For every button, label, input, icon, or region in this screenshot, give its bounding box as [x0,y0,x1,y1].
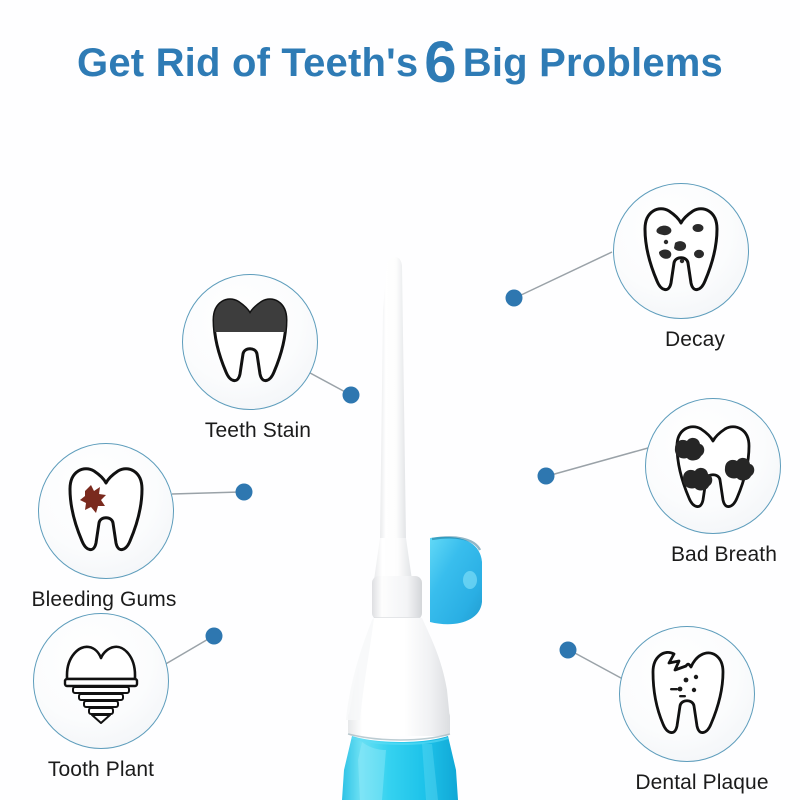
implant-thread-4 [89,708,113,714]
tooth-bleeding-icon [58,461,154,561]
problem-circle-bad-breath [645,398,781,534]
nozzle-shaft [374,538,412,580]
nozzle-collar [372,576,422,620]
page-title-number: 6 [418,30,462,95]
water-tank-highlight [358,742,386,800]
problem-label-teeth-stain: Teeth Stain [190,419,326,443]
problem-label-bad-breath: Bad Breath [639,543,800,567]
page-title: Get Rid of Teeth's6Big Problems [0,28,800,86]
problem-label-bleeding-gums: Bleeding Gums [4,588,204,612]
implant-thread-2 [79,694,123,700]
problem-circle-bleeding-gums [38,443,174,579]
implant-base [65,679,137,686]
connector-dot-tooth-plant [206,628,223,645]
problem-label-tooth-plant: Tooth Plant [11,758,191,782]
problem-circle-tooth-plant [33,613,169,749]
tooth-stain-icon [202,292,298,392]
problem-circle-dental-plaque [619,626,755,762]
nozzle-tip [380,257,406,540]
implant-crown [67,647,135,679]
page-title-prefix: Get Rid of Teeth's [77,41,418,85]
implant-thread-3 [84,701,118,707]
handle-body-lower [348,712,450,736]
problem-item-dental-plaque[interactable]: Dental Plaque [619,626,797,795]
infographic-canvas: Get Rid of Teeth's6Big Problems [0,0,800,800]
problem-circle-teeth-stain [182,274,318,410]
problem-item-teeth-stain[interactable]: Teeth Stain [182,274,326,443]
product-illustration [330,250,570,800]
page-title-suffix: Big Problems [463,41,723,85]
tooth-outline-chipped [653,652,723,732]
implant-thread-1 [73,687,129,693]
problem-circle-decay [613,183,749,319]
problem-label-decay: Decay [627,328,763,352]
problem-item-tooth-plant[interactable]: Tooth Plant [33,613,191,782]
problem-item-decay[interactable]: Decay [613,183,763,352]
implant-tip [92,715,110,723]
problem-item-bad-breath[interactable]: Bad Breath [645,398,800,567]
problem-item-bleeding-gums[interactable]: Bleeding Gums [38,443,204,612]
tooth-plaque-icon [639,644,735,744]
problem-label-dental-plaque: Dental Plaque [607,771,797,795]
trigger-highlight [463,571,477,589]
product-water-flosser [330,250,570,800]
tooth-outline [70,469,142,550]
dental-implant-icon [51,631,151,731]
connector-dot-bleeding-gums [236,484,253,501]
tooth-bacteria-icon [663,416,763,516]
tooth-decay-icon [633,201,729,301]
